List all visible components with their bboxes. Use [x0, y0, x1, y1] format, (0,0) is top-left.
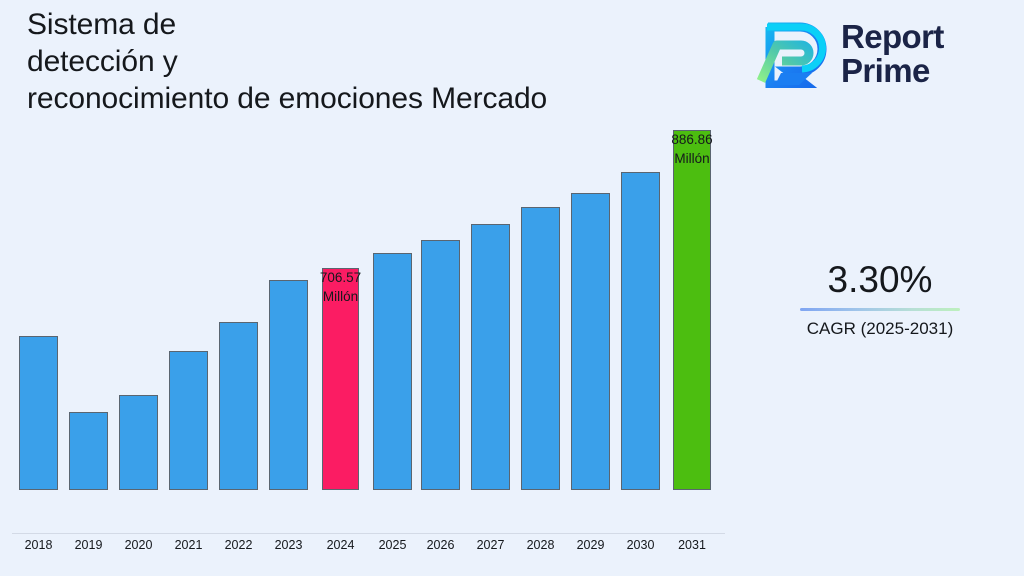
x-tick-2031: 2031: [667, 538, 717, 552]
brand-name-line2: Prime: [841, 52, 930, 89]
x-tick-2019: 2019: [63, 538, 114, 552]
x-tick-2026: 2026: [415, 538, 466, 552]
bar-2029[interactable]: [571, 193, 610, 490]
plot-area: 2018201920202021202220232024202520262027…: [0, 0, 737, 576]
cagr-label: CAGR (2025-2031): [749, 318, 1011, 340]
x-tick-2025: 2025: [367, 538, 418, 552]
brand-panel: ReportPrime 3.30% CAGR (2025-2031): [737, 0, 1021, 576]
infographic-root: Sistema de detección y reconocimiento de…: [0, 0, 1024, 576]
x-axis-line: [12, 533, 725, 534]
cagr-value: 3.30%: [749, 258, 1011, 302]
brand-logo: ReportPrime: [755, 12, 1007, 94]
x-tick-2020: 2020: [113, 538, 164, 552]
x-tick-2027: 2027: [465, 538, 516, 552]
brand-name: ReportPrime: [841, 18, 944, 88]
x-axis-labels: 2018201920202021202220232024202520262027…: [0, 538, 737, 562]
x-tick-2028: 2028: [515, 538, 566, 552]
bar-2022[interactable]: [219, 322, 258, 490]
bar-2027[interactable]: [471, 224, 510, 490]
bar-2031[interactable]: [673, 130, 711, 490]
chart-panel: Sistema de detección y reconocimiento de…: [0, 0, 737, 576]
bar-2020[interactable]: [119, 395, 158, 490]
x-tick-2023: 2023: [263, 538, 314, 552]
bar-2023[interactable]: [269, 280, 308, 490]
brand-name-line1: Report: [841, 18, 944, 55]
bar-2019[interactable]: [69, 412, 108, 490]
bar-2024[interactable]: [322, 268, 359, 490]
bar-2026[interactable]: [421, 240, 460, 490]
bar-2021[interactable]: [169, 351, 208, 490]
x-tick-2029: 2029: [565, 538, 616, 552]
x-tick-2030: 2030: [615, 538, 666, 552]
x-tick-2018: 2018: [13, 538, 64, 552]
bar-2025[interactable]: [373, 253, 412, 490]
cagr-block: 3.30% CAGR (2025-2031): [749, 258, 1011, 340]
cagr-divider-rule: [800, 308, 960, 311]
x-tick-2021: 2021: [163, 538, 214, 552]
bar-2028[interactable]: [521, 207, 560, 490]
report-prime-logo-icon: [755, 18, 831, 88]
bar-series: [0, 0, 737, 533]
bar-2030[interactable]: [621, 172, 660, 490]
bar-2018[interactable]: [19, 336, 58, 490]
x-tick-2022: 2022: [213, 538, 264, 552]
x-tick-2024: 2024: [316, 538, 365, 552]
